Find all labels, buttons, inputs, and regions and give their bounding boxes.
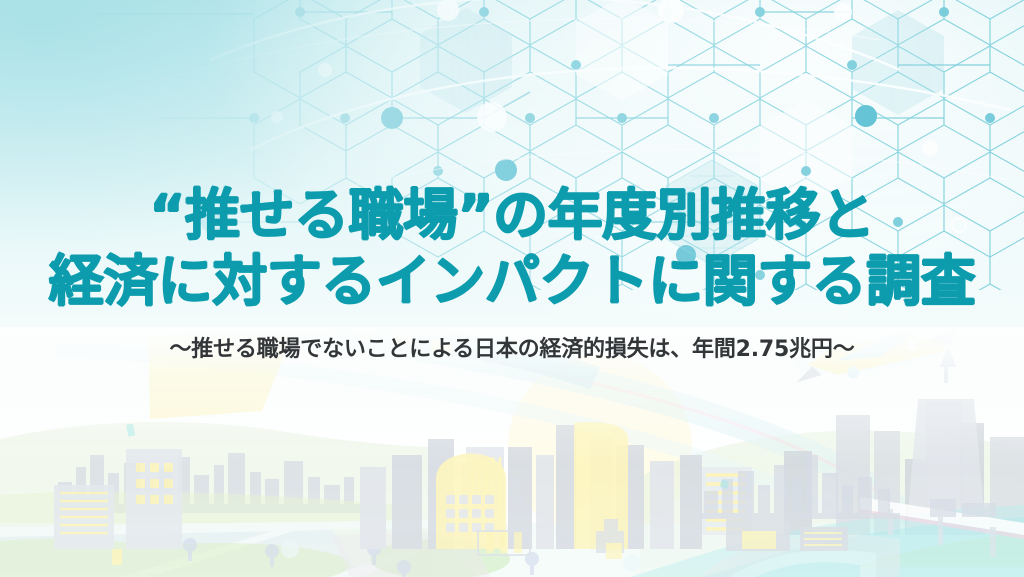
page-title-line-1: “推せる職場”の年度別推移と: [149, 184, 874, 246]
dome-building: [436, 454, 506, 550]
page-subtitle: 〜推せる職場でないことによる日本の経済的損失は、年間2.75兆円〜: [169, 336, 854, 364]
title-slide: “推せる職場”の年度別推移と 経済に対するインパクトに関する調査 〜推せる職場で…: [0, 0, 1024, 577]
page-title-line-2: 経済に対するインパクトに関する調査: [49, 250, 976, 312]
city-skyline-illustration: [0, 327, 1024, 577]
